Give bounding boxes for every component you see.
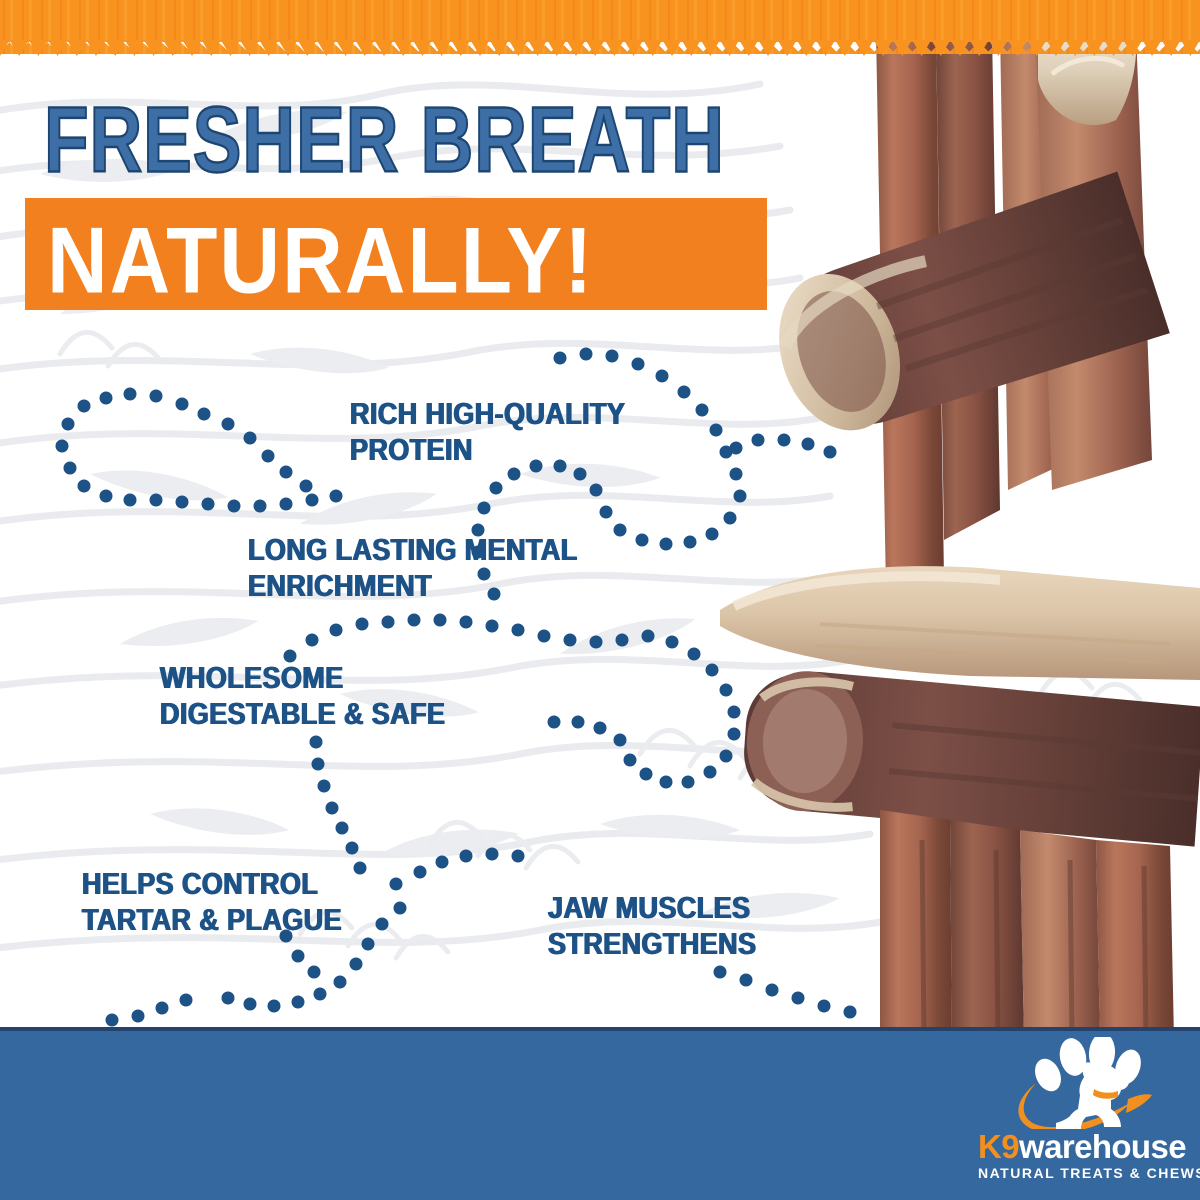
headline-subtitle: NATURALLY! (47, 202, 594, 318)
brand-logo[interactable]: K9warehouse NATURAL TREATS & CHEWS (978, 1037, 1178, 1187)
product-infographic-poster: FRESHER BREATH NATURALLY! RICH HIGH-QUAL… (0, 0, 1200, 1200)
feature-label-wholesome: WHOLESOME DIGESTABLE & SAFE (160, 660, 445, 732)
product-photo-bully-sticks (700, 40, 1200, 1030)
logo-k9-text: K9 (978, 1128, 1019, 1165)
feature-label-jaw-muscles: JAW MUSCLES STRENGTHENS (548, 890, 756, 962)
dog-paw-logo-icon (978, 1037, 1178, 1129)
feature-label-tartar: HELPS CONTROL TARTAR & PLAGUE (82, 866, 342, 938)
headline-banner: NATURALLY! (25, 198, 767, 310)
logo-wordmark: K9warehouse (978, 1130, 1178, 1164)
feature-label-protein: RICH HIGH-QUALITY PROTEIN (350, 396, 625, 468)
page-title: FRESHER BREATH (44, 92, 725, 190)
logo-warehouse-text: warehouse (1019, 1128, 1186, 1165)
logo-tagline: NATURAL TREATS & CHEWS (978, 1165, 1178, 1181)
feature-label-mental-enrichment: LONG LASTING MENTAL ENRICHMENT (248, 532, 578, 604)
